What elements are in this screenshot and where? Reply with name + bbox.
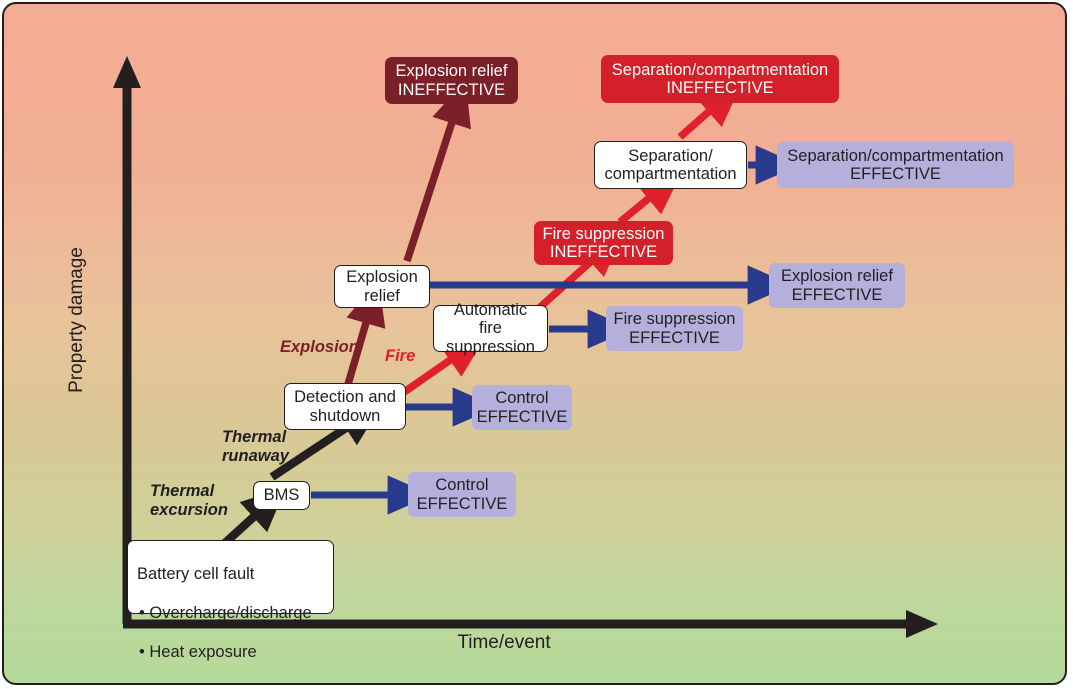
node-detection-and-shutdown[interactable]: Detection and shutdown bbox=[284, 383, 406, 430]
battery-fault-item-2: • Mechanical damage bbox=[137, 682, 324, 685]
node-battery-cell-fault[interactable]: Battery cell fault • Overcharge/discharg… bbox=[127, 540, 334, 614]
y-axis-label: Property damage bbox=[66, 220, 88, 420]
flow-label-explosion: Explosion bbox=[280, 338, 400, 357]
outcome-explosion-relief-effective[interactable]: Explosion relief EFFECTIVE bbox=[769, 263, 905, 308]
node-explosion-relief[interactable]: Explosion relief bbox=[334, 265, 430, 308]
outcome-control-effective-bms[interactable]: Control EFFECTIVE bbox=[408, 472, 516, 517]
flow-label-thermal-excursion: Thermal excursion bbox=[150, 482, 270, 520]
outcome-separation-ineffective[interactable]: Separation/compartmentation INEFFECTIVE bbox=[601, 55, 839, 103]
arrow-separation-ineffective bbox=[680, 107, 714, 137]
outcome-control-effective-detection[interactable]: Control EFFECTIVE bbox=[472, 385, 572, 430]
node-automatic-fire-suppression[interactable]: Automatic fire suppression bbox=[433, 305, 548, 352]
battery-fault-item-1: • Heat exposure bbox=[137, 643, 324, 662]
y-axis bbox=[113, 56, 141, 624]
battery-fault-title: Battery cell fault bbox=[137, 565, 324, 584]
x-axis-label: Time/event bbox=[404, 632, 604, 654]
outcome-separation-effective[interactable]: Separation/compartmentation EFFECTIVE bbox=[777, 142, 1014, 188]
outcome-fire-suppression-ineffective[interactable]: Fire suppression INEFFECTIVE bbox=[534, 221, 673, 265]
node-bms[interactable]: BMS bbox=[253, 481, 310, 510]
arrow-explosion-relief-ineffective bbox=[407, 116, 454, 261]
outcome-fire-suppression-effective[interactable]: Fire suppression EFFECTIVE bbox=[606, 306, 743, 351]
battery-fault-item-0: • Overcharge/discharge bbox=[137, 604, 324, 623]
diagram-frame: Property damage Time/event Thermal excur… bbox=[2, 2, 1067, 685]
node-separation-compartmentation[interactable]: Separation/ compartmentation bbox=[594, 141, 747, 189]
arrow-to-separation bbox=[620, 194, 654, 222]
flow-label-thermal-runaway: Thermal runaway bbox=[222, 428, 342, 466]
outcome-explosion-relief-ineffective[interactable]: Explosion relief INEFFECTIVE bbox=[385, 57, 518, 104]
diagram-canvas: Property damage Time/event Thermal excur… bbox=[0, 0, 1073, 689]
